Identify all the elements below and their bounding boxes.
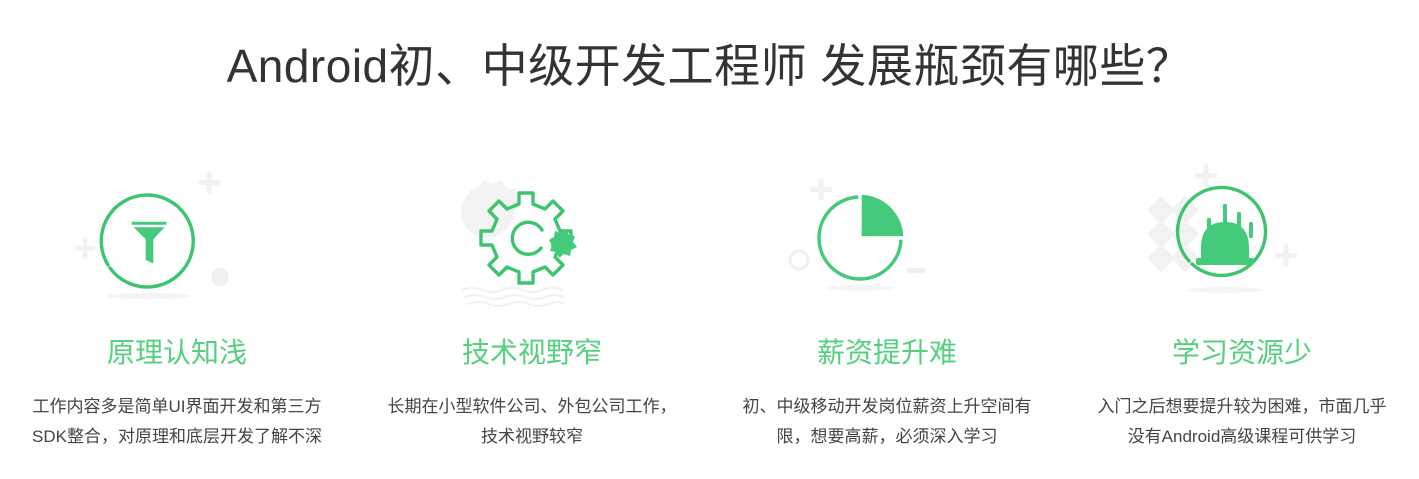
diamond-decor-icon xyxy=(1147,196,1199,272)
icon-stage-3 xyxy=(772,160,1002,320)
card-description-line: SDK整合，对原理和底层开发了解不深 xyxy=(12,422,342,452)
feature-card-4: 学习资源少 入门之后想要提升较为困难，市面几乎 没有Android高级课程可供学… xyxy=(1065,160,1419,452)
promo-banner: Android初、中级开发工程师 发展瓶颈有哪些？ xyxy=(0,0,1419,479)
plus-decor-icon xyxy=(75,238,95,258)
pie-slice xyxy=(860,193,905,238)
dome-glyph xyxy=(1196,204,1254,265)
dot-decor-icon xyxy=(211,268,229,286)
library-dome-icon xyxy=(1127,160,1357,320)
card-heading: 薪资提升难 xyxy=(817,336,957,370)
funnel-glyph xyxy=(130,220,168,266)
dash-decor-icon xyxy=(906,268,926,273)
feature-card-1: 原理认知浅 工作内容多是简单UI界面开发和第三方 SDK整合，对原理和底层开发了… xyxy=(0,160,354,452)
icon-shadow xyxy=(826,285,894,291)
feature-card-list: 原理认知浅 工作内容多是简单UI界面开发和第三方 SDK整合，对原理和底层开发了… xyxy=(0,160,1419,452)
feature-card-3: 薪资提升难 初、中级移动开发岗位薪资上升空间有 限，想要高薪，必须深入学习 xyxy=(710,160,1064,452)
plus-decor-icon xyxy=(810,179,832,201)
page-title: Android初、中级开发工程师 发展瓶颈有哪些？ xyxy=(0,36,1419,96)
icon-shadow xyxy=(107,293,191,299)
icon-shadow xyxy=(1187,287,1263,293)
card-description-line: 没有Android高级课程可供学习 xyxy=(1077,422,1407,452)
card-description: 工作内容多是简单UI界面开发和第三方 SDK整合，对原理和底层开发了解不深 xyxy=(12,392,342,452)
wave-decor-icon xyxy=(462,288,563,306)
card-description: 入门之后想要提升较为困难，市面几乎 没有Android高级课程可供学习 xyxy=(1077,392,1407,452)
card-description: 长期在小型软件公司、外包公司工作， 技术视野较窄 xyxy=(367,392,697,452)
plus-decor-icon xyxy=(198,172,220,194)
card-description-line: 限，想要高薪，必须深入学习 xyxy=(722,422,1052,452)
card-description-line: 长期在小型软件公司、外包公司工作， xyxy=(367,392,697,422)
plus-decor-icon xyxy=(1195,165,1217,187)
circle-decor-icon xyxy=(790,251,808,269)
pie-chart-icon xyxy=(772,160,1002,320)
card-description-line: 入门之后想要提升较为困难，市面几乎 xyxy=(1077,392,1407,422)
small-gear-glyph xyxy=(549,229,577,258)
card-description-line: 工作内容多是简单UI界面开发和第三方 xyxy=(12,392,342,422)
gear-icon xyxy=(417,160,647,320)
plus-decor-icon xyxy=(1275,245,1297,267)
card-description-line: 技术视野较窄 xyxy=(367,422,697,452)
icon-stage-1 xyxy=(62,160,292,320)
icon-stage-4 xyxy=(1127,160,1357,320)
feature-card-2: 技术视野窄 长期在小型软件公司、外包公司工作， 技术视野较窄 xyxy=(355,160,709,452)
card-heading: 原理认知浅 xyxy=(107,336,247,370)
card-heading: 技术视野窄 xyxy=(462,336,602,370)
card-description: 初、中级移动开发岗位薪资上升空间有 限，想要高薪，必须深入学习 xyxy=(722,392,1052,452)
icon-stage-2 xyxy=(417,160,647,320)
funnel-icon xyxy=(62,160,292,320)
card-heading: 学习资源少 xyxy=(1172,336,1312,370)
card-description-line: 初、中级移动开发岗位薪资上升空间有 xyxy=(722,392,1052,422)
